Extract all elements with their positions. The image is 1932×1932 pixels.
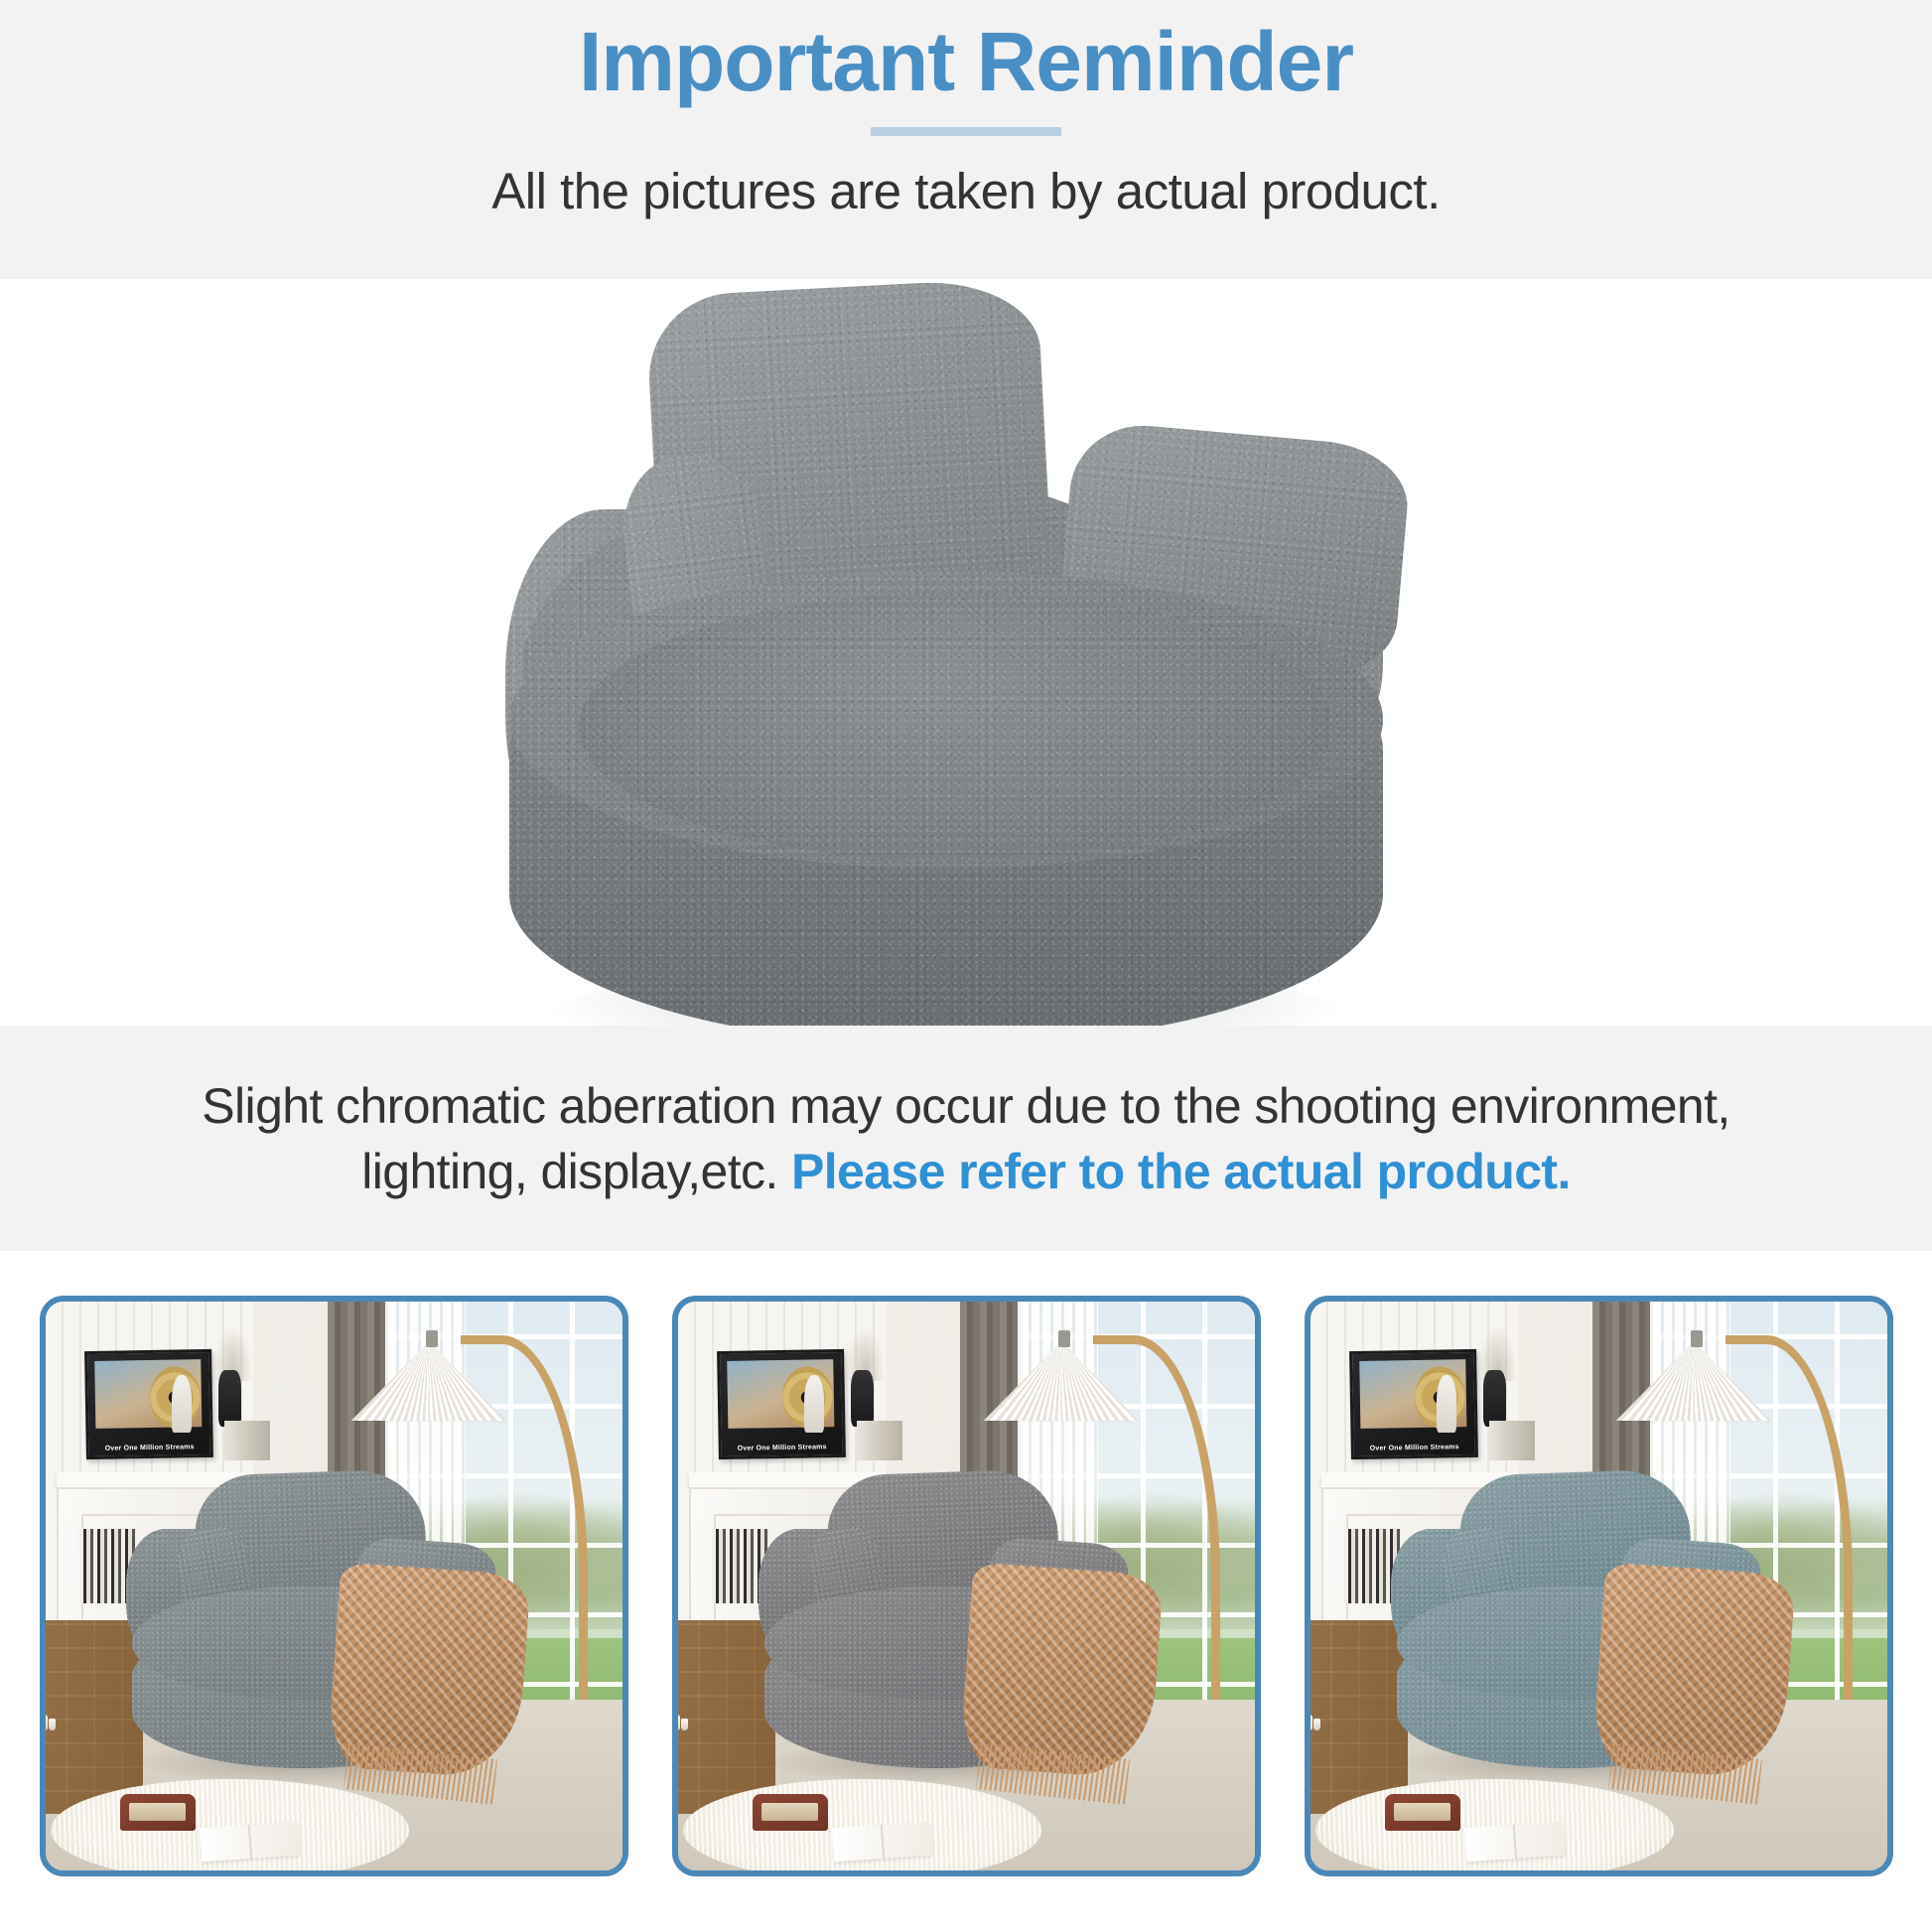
vintage-radio [753,1794,828,1831]
wooden-side-table [672,1620,776,1814]
lifestyle-thumbnail-1[interactable]: Over One Million Streams [40,1296,628,1876]
open-magazine [200,1822,300,1863]
hero-product-image [0,279,1932,1026]
open-magazine [1464,1822,1565,1863]
white-figurine [804,1375,824,1432]
vintage-radio [1385,1794,1460,1831]
poster-caption: Over One Million Streams [1354,1443,1475,1451]
lifestyle-thumbnail-row: Over One Million Streams [0,1296,1932,1876]
room-scene: Over One Million Streams [678,1302,1255,1870]
framed-record-poster: Over One Million Streams [717,1349,846,1459]
chromatic-aberration-notice: Slight chromatic aberration may occur du… [0,1026,1932,1251]
candle [673,1715,680,1730]
notice-line-1: Slight chromatic aberration may occur du… [122,1073,1810,1139]
black-vase-top-shelf [218,1370,241,1427]
lamp-finial [426,1330,438,1347]
wooden-side-table [1305,1620,1409,1814]
room-scene: Over One Million Streams [46,1302,622,1870]
glass-jar [1313,1719,1320,1730]
framed-record-poster: Over One Million Streams [1349,1349,1478,1459]
black-vase-top-shelf [1483,1370,1506,1427]
shelf-books-upper [857,1421,902,1460]
lifestyle-thumbnail-2[interactable]: Over One Million Streams [672,1296,1261,1876]
framed-record-poster: Over One Million Streams [84,1349,213,1459]
black-vase-top-shelf [851,1370,874,1427]
notice-line-2-plain: lighting, display,etc. [361,1144,791,1199]
title-divider [871,127,1061,136]
lamp-finial [1058,1330,1070,1347]
chair-seat-cushion [579,593,1333,861]
open-magazine [832,1822,932,1863]
poster-caption: Over One Million Streams [722,1443,843,1451]
vintage-radio [120,1794,196,1831]
poster-caption: Over One Million Streams [89,1443,210,1451]
header-subtitle: All the pictures are taken by actual pro… [491,162,1441,220]
shelf-books-upper [224,1421,270,1460]
white-figurine [172,1375,192,1432]
notice-accent-text: Please refer to the actual product. [791,1144,1571,1199]
lamp-finial [1691,1330,1703,1347]
candle [1306,1715,1312,1730]
shelf-books-upper [1489,1421,1535,1460]
boucle-texture [579,593,1333,861]
glass-jar [49,1719,56,1730]
page-title: Important Reminder [579,18,1353,105]
notice-line-2: lighting, display,etc. Please refer to t… [122,1139,1810,1204]
lifestyle-thumbnail-3[interactable]: Over One Million Streams [1305,1296,1893,1876]
white-figurine [1437,1375,1456,1432]
candle [41,1715,48,1730]
reminder-header-band: Important Reminder All the pictures are … [0,0,1932,279]
product-chair-illustration [450,279,1482,1026]
glass-jar [681,1719,688,1730]
wooden-side-table [40,1620,144,1814]
room-scene: Over One Million Streams [1311,1302,1887,1870]
